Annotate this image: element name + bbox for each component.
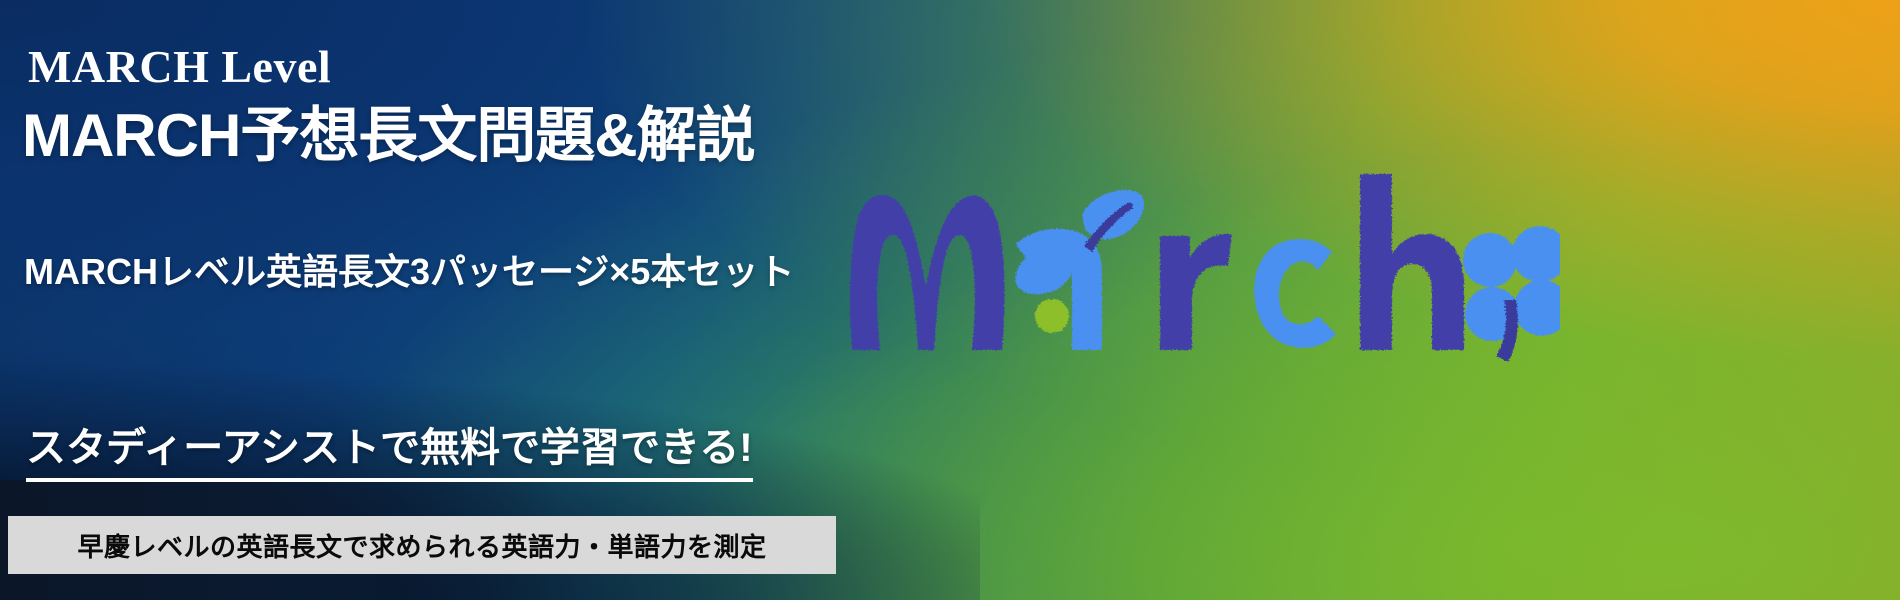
promo-banner: MARCH Level MARCH予想長文問題&解説 MARCHレベル英語長文3… xyxy=(0,0,1900,600)
status-badge-label: 早慶レベルの英語長文で求められる英語力・単語力を測定 xyxy=(77,527,766,564)
flower-icon xyxy=(1463,226,1560,362)
letter-m-glyph xyxy=(850,195,1005,350)
page-title: MARCH予想長文問題&解説 xyxy=(22,104,755,167)
cta-link[interactable]: スタディーアシストで無料で学習できる! xyxy=(26,424,753,482)
status-badge: 早慶レベルの英語長文で求められる英語力・単語力を測定 xyxy=(8,516,836,574)
subtitle-label: MARCHレベル英語長文3パッセージ×5本セット xyxy=(24,252,794,292)
letter-r-glyph xyxy=(1160,234,1232,350)
eyebrow-label: MARCH Level xyxy=(28,44,331,90)
leaf-icon xyxy=(1083,190,1145,252)
letter-h-glyph xyxy=(1360,174,1464,350)
march-lettering-artwork xyxy=(840,150,1560,370)
letter-c-glyph xyxy=(1254,239,1336,348)
letter-a-glyph xyxy=(1015,190,1144,350)
